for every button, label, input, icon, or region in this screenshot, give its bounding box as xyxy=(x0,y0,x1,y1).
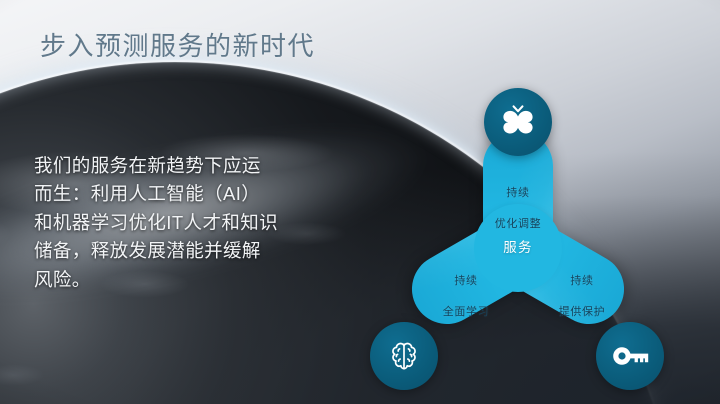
arm-label-bottom-left: 持续 全面学习 xyxy=(420,258,512,336)
spinner-node-top[interactable] xyxy=(484,88,552,156)
key-icon xyxy=(611,344,649,368)
arm-label-left-line1: 持续 xyxy=(420,274,512,290)
page-title: 步入预测服务的新时代 xyxy=(40,30,315,63)
arm-label-right-line2: 提供保护 xyxy=(534,305,630,321)
arm-label-left-line2: 全面学习 xyxy=(420,305,512,321)
butterfly-icon xyxy=(500,105,536,139)
arm-label-top: 持续 优化调整 xyxy=(468,170,568,248)
spinner-node-bottom-right[interactable] xyxy=(596,322,664,390)
arm-label-top-line2: 优化调整 xyxy=(468,217,568,233)
body-paragraph: 我们的服务在新趋势下应运 而生：利用人工智能（AI） 和机器学习优化IT人才和知… xyxy=(34,152,350,294)
slide: 步入预测服务的新时代 我们的服务在新趋势下应运 而生：利用人工智能（AI） 和机… xyxy=(0,0,720,404)
brain-icon xyxy=(386,338,422,374)
service-spinner-diagram: 服务 持续 优化调整 持续 全面学习 持续 提供保护 xyxy=(358,72,678,372)
arm-label-top-line1: 持续 xyxy=(468,186,568,202)
arm-label-right-line1: 持续 xyxy=(534,274,630,290)
spinner-node-bottom-left[interactable] xyxy=(370,322,438,390)
